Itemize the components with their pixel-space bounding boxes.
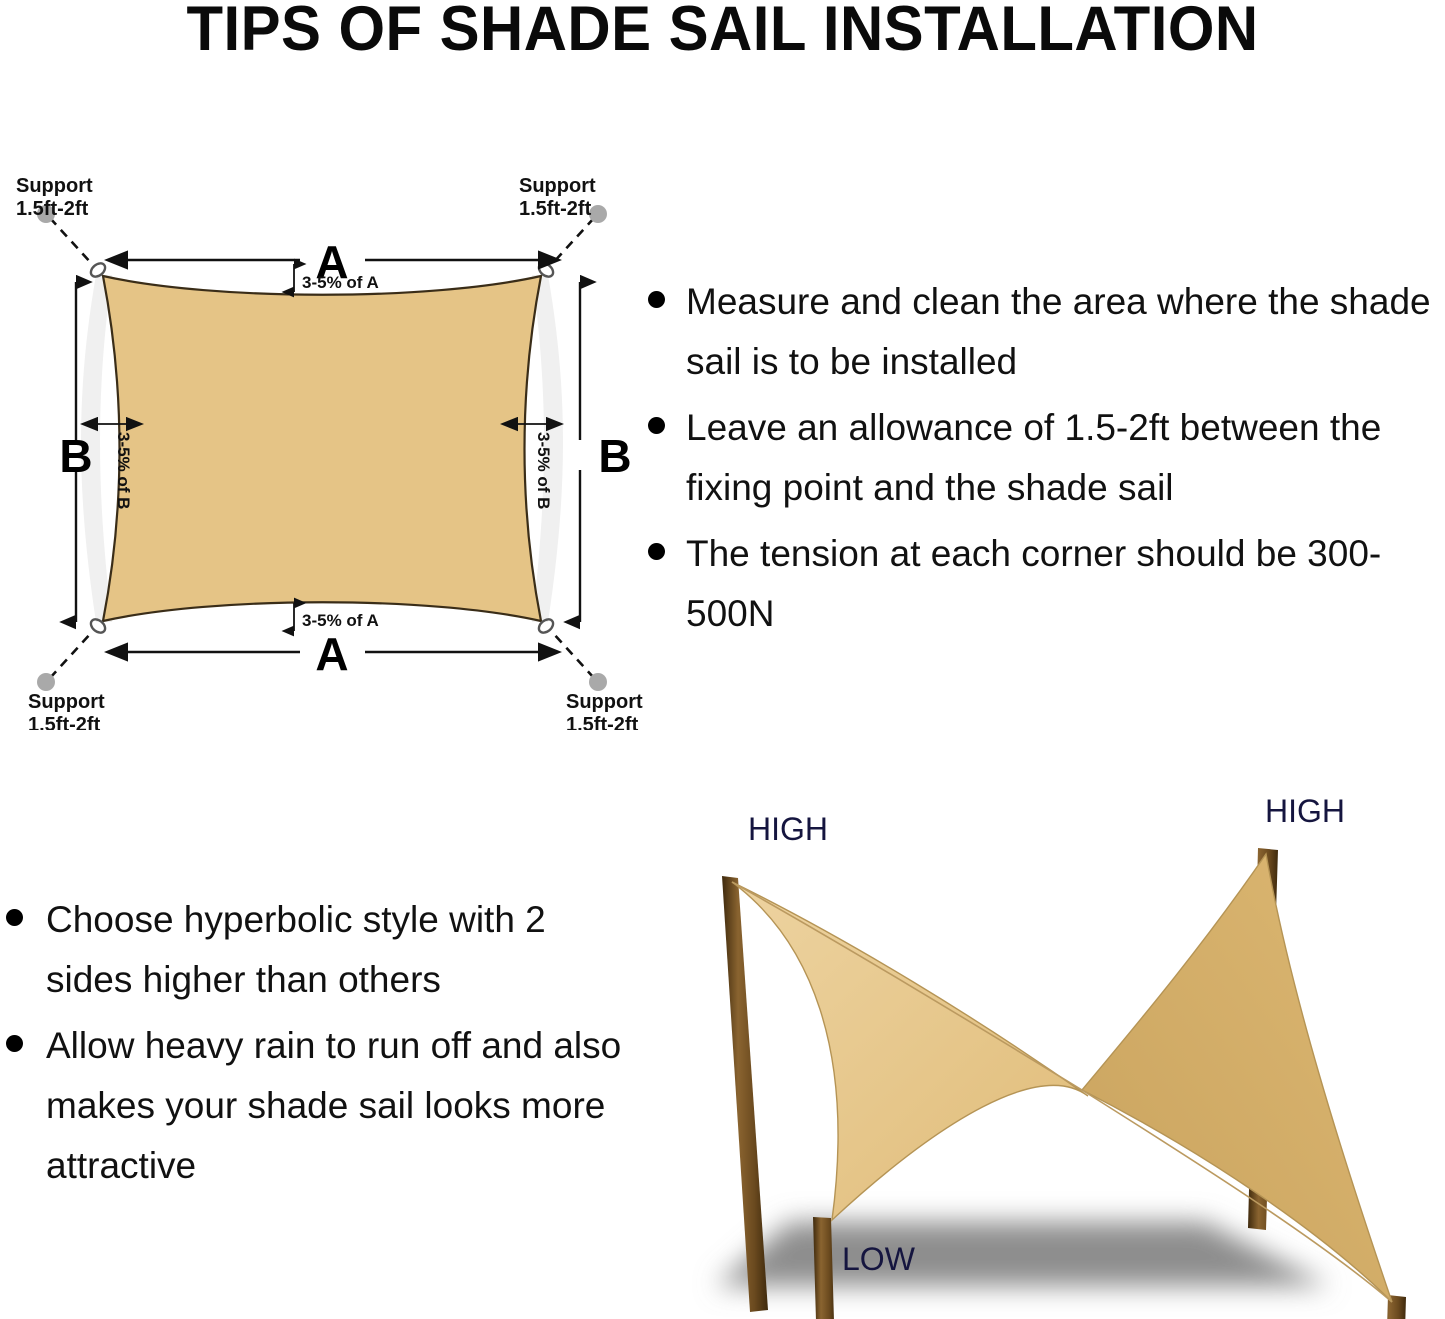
- dimension-label-a-bottom: A: [315, 628, 348, 680]
- sail-fabric-shape: [103, 276, 541, 621]
- list-item: Leave an allowance of 1.5-2ft between th…: [640, 398, 1445, 518]
- support-label-top-left-line2: 1.5ft-2ft: [16, 198, 89, 220]
- label-high-right: HIGH: [1265, 793, 1345, 829]
- dimension-b-right: B: [580, 282, 632, 622]
- infographic-page: TIPS OF SHADE SAIL INSTALLATION: [0, 0, 1445, 1319]
- support-dot-bottom-right: [589, 673, 607, 691]
- ground-shadow: [716, 1222, 1330, 1286]
- curve-callout-bottom: 3-5% of A: [294, 603, 379, 631]
- pole-low-right: [1380, 1295, 1406, 1319]
- curve-callout-left-label: 3-5% of B: [114, 432, 133, 509]
- support-label-top-right-line2: 1.5ft-2ft: [519, 198, 592, 220]
- label-high-left: HIGH: [748, 811, 828, 847]
- list-item: Measure and clean the area where the sha…: [640, 272, 1445, 392]
- list-item: Allow heavy rain to run off and also mak…: [0, 1016, 640, 1196]
- dimension-label-b-left: B: [59, 430, 92, 482]
- dimension-a-bottom: A: [128, 628, 538, 680]
- support-label-top-right-line1: Support: [519, 175, 596, 197]
- label-low-left: LOW: [842, 1241, 916, 1277]
- hyperbolic-tips-list: Choose hyperbolic style with 2 sides hig…: [0, 890, 640, 1202]
- pole-high-left: [722, 876, 768, 1312]
- curve-callout-left: 3-5% of B: [98, 424, 133, 509]
- support-label-top-left-line1: Support: [16, 175, 93, 197]
- curve-callout-bottom-label: 3-5% of A: [302, 611, 379, 630]
- installation-tips-list: Measure and clean the area where the sha…: [640, 272, 1445, 650]
- shade-sail-dimension-diagram: Support 1.5ft-2ft Support 1.5ft-2ft Supp…: [0, 160, 660, 730]
- page-title: TIPS OF SHADE SAIL INSTALLATION: [36, 0, 1409, 62]
- support-label-bottom-left-line1: Support: [28, 691, 105, 713]
- curve-callout-right-label: 3-5% of B: [534, 432, 553, 509]
- sail-lobe-left: [732, 882, 1088, 1220]
- support-label-bottom-left-line2: 1.5ft-2ft: [28, 714, 101, 730]
- support-label-bottom-right-line2: 1.5ft-2ft: [566, 714, 639, 730]
- curve-callout-top-label: 3-5% of A: [302, 273, 379, 292]
- support-dot-bottom-left: [37, 673, 55, 691]
- support-dot-top-right: [589, 205, 607, 223]
- hyperbolic-shade-sail-illustration: HIGH HIGH LOW LOW: [680, 790, 1445, 1319]
- support-label-bottom-right-line1: Support: [566, 691, 643, 713]
- list-item: The tension at each corner should be 300…: [640, 524, 1445, 644]
- list-item: Choose hyperbolic style with 2 sides hig…: [0, 890, 640, 1010]
- dimension-label-b-right: B: [598, 430, 631, 482]
